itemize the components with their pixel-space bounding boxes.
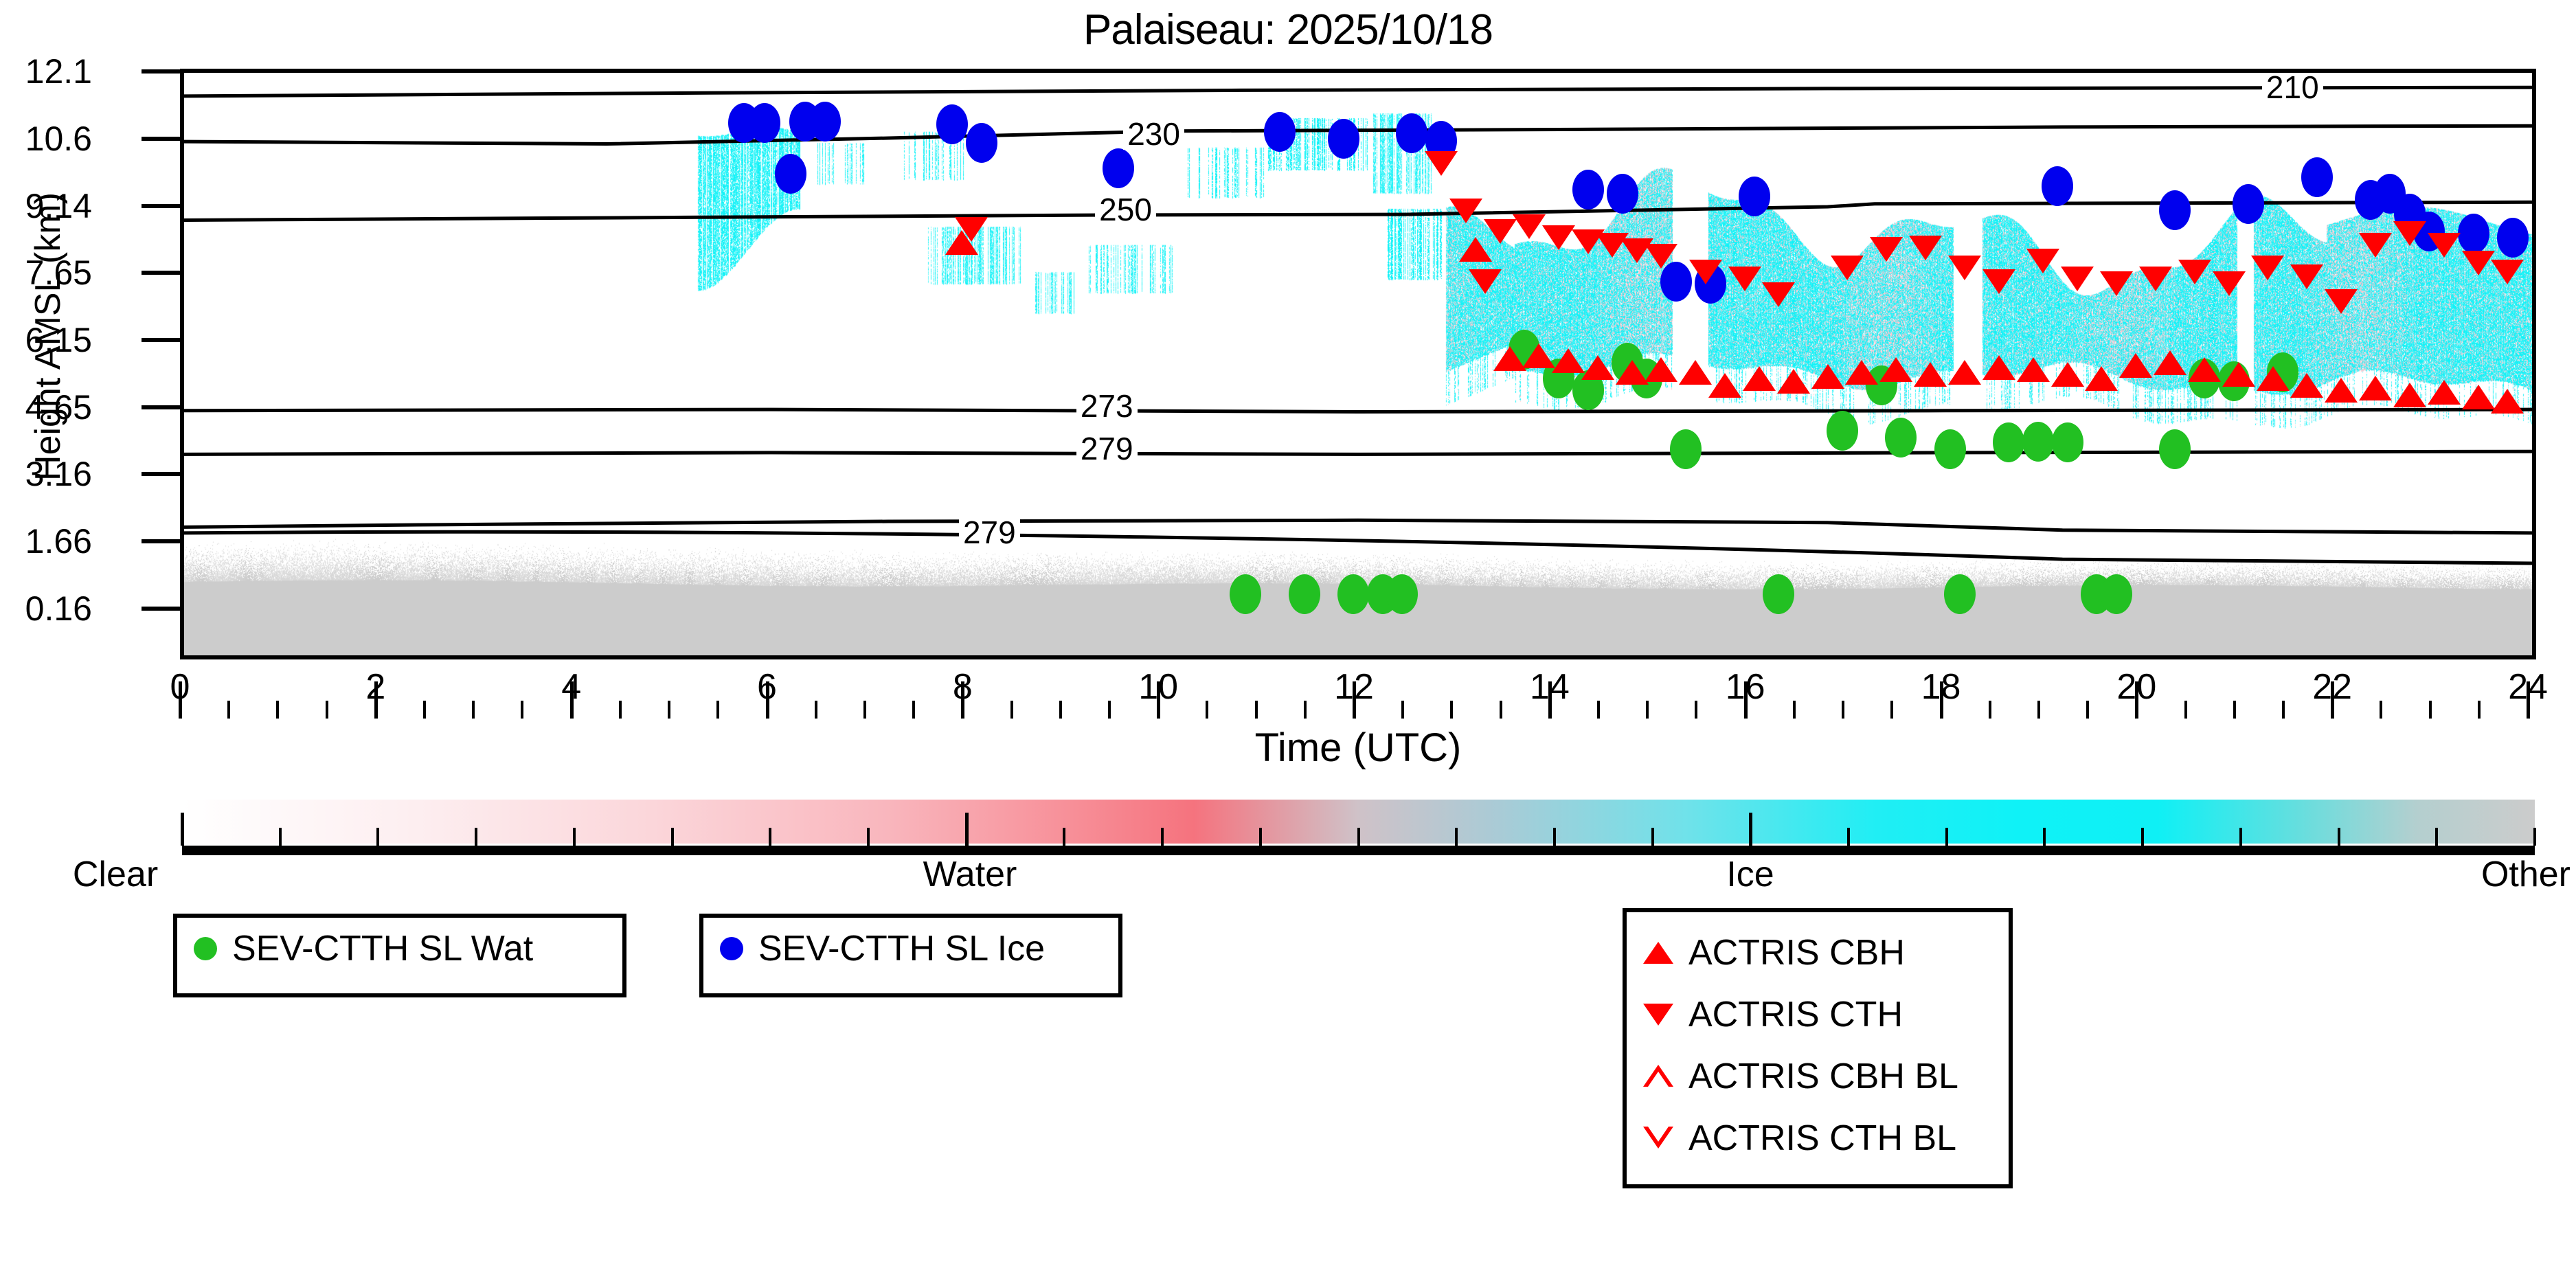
- contour-label: 230: [1123, 118, 1184, 150]
- x-tick-minor: [472, 701, 475, 719]
- triangle-down-filled-icon: [1643, 1004, 1673, 1026]
- x-tick-minor: [2037, 701, 2040, 719]
- legend-label-wat: SEV-CTTH SL Wat: [232, 931, 533, 967]
- x-tick-minor: [815, 701, 817, 719]
- colorbar-tick: [1259, 828, 1262, 846]
- x-tick-minor: [1108, 701, 1111, 719]
- colorbar-label-clear: Clear: [73, 855, 158, 894]
- legend-sev-ctth-wat[interactable]: SEV-CTTH SL Wat: [173, 914, 626, 997]
- colorbar-tick: [1945, 828, 1948, 846]
- colorbar-tick: [2239, 828, 2242, 846]
- colorbar-tick: [475, 828, 477, 846]
- colorbar-tick: [965, 813, 969, 846]
- x-tick-minor: [423, 701, 426, 719]
- colorbar-tick: [573, 828, 576, 846]
- x-tick-minor: [1695, 701, 1697, 719]
- colorbar-tick: [1357, 828, 1360, 846]
- x-tick-minor: [1500, 701, 1502, 719]
- x-tick-label: 16: [1726, 669, 1765, 705]
- contour-label: 273: [1076, 390, 1138, 422]
- x-tick-minor: [1793, 701, 1796, 719]
- colorbar-baseline: [182, 846, 2535, 855]
- legend-label-actris-cth-bl: ACTRIS CTH BL: [1688, 1120, 1956, 1156]
- y-tick-mark: [142, 338, 180, 342]
- x-tick-minor: [668, 701, 670, 719]
- colorbar-tick: [1651, 828, 1654, 846]
- x-tick-label: 18: [1921, 669, 1961, 705]
- x-tick-minor: [1401, 701, 1404, 719]
- x-tick-minor: [1646, 701, 1649, 719]
- x-tick-minor: [1010, 701, 1013, 719]
- x-tick-minor: [1842, 701, 1844, 719]
- colorbar-label-other: Other: [2481, 855, 2571, 894]
- x-tick-label: 22: [2312, 669, 2352, 705]
- colorbar-tick: [1161, 828, 1164, 846]
- x-tick-minor: [227, 701, 230, 719]
- x-tick-label: 6: [757, 669, 777, 705]
- legend-label-actris-cbh: ACTRIS CBH: [1688, 935, 1905, 971]
- legend-item-wat[interactable]: SEV-CTTH SL Wat: [177, 918, 622, 980]
- colorbar-tick: [769, 828, 771, 846]
- triangle-up-filled-icon: [1643, 942, 1673, 964]
- triangle-down-open-icon: [1643, 1127, 1673, 1150]
- colorbar-tick: [1553, 828, 1556, 846]
- y-tick-mark: [142, 607, 180, 611]
- cloud-classification-plot: 210230250273279279: [180, 69, 2536, 659]
- legend-item-actris-cbh[interactable]: ACTRIS CBH: [1627, 922, 2009, 984]
- y-tick-mark: [142, 271, 180, 275]
- x-tick-label: 14: [1530, 669, 1570, 705]
- contour-label: 210: [2262, 73, 2323, 103]
- x-tick-minor: [2233, 701, 2236, 719]
- y-tick-mark: [142, 69, 180, 74]
- colorbar-label-ice: Ice: [1726, 855, 1774, 894]
- x-tick-label: 2: [365, 669, 385, 705]
- x-tick-label: 20: [2116, 669, 2156, 705]
- x-tick-minor: [276, 701, 279, 719]
- colorbar-tick: [867, 828, 870, 846]
- colorbar-tick: [2338, 828, 2340, 846]
- x-tick-label: 24: [2508, 669, 2548, 705]
- x-tick-label: 12: [1334, 669, 1374, 705]
- x-tick-minor: [2429, 701, 2432, 719]
- blue-circle-icon: [720, 937, 743, 960]
- legend-actris[interactable]: ACTRIS CBH ACTRIS CTH ACTRIS CBH BL ACTR…: [1623, 908, 2013, 1188]
- legend-label-ice: SEV-CTTH SL Ice: [758, 931, 1045, 967]
- colorbar-tick: [181, 813, 184, 846]
- x-tick-minor: [1059, 701, 1062, 719]
- contour-label: 250: [1095, 194, 1156, 225]
- x-axis: 024681012141618202224: [180, 664, 2536, 719]
- x-tick-minor: [326, 701, 328, 719]
- legend-item-ice[interactable]: SEV-CTTH SL Ice: [703, 918, 1118, 980]
- x-tick-minor: [863, 701, 866, 719]
- triangle-up-open-icon: [1643, 1065, 1673, 1088]
- colorbar-tick: [2141, 828, 2144, 846]
- colorbar-tick: [1847, 828, 1850, 846]
- x-tick-minor: [1597, 701, 1600, 719]
- y-tick-mark: [142, 137, 180, 141]
- legend-label-actris-cbh-bl: ACTRIS CBH BL: [1688, 1059, 1958, 1094]
- x-tick-minor: [2478, 701, 2481, 719]
- x-tick-label: 4: [561, 669, 581, 705]
- colorbar-tick: [1455, 828, 1458, 846]
- x-tick-minor: [2086, 701, 2089, 719]
- green-circle-icon: [194, 937, 217, 960]
- x-tick-label: 10: [1138, 669, 1178, 705]
- colorbar-tick: [279, 828, 282, 846]
- y-tick-mark: [142, 405, 180, 409]
- colorbar-tick: [2043, 828, 2046, 846]
- contour-label-layer: 210230250273279279: [184, 73, 2532, 655]
- y-tick-mark: [142, 472, 180, 476]
- x-tick-minor: [619, 701, 622, 719]
- x-tick-minor: [2380, 701, 2382, 719]
- x-tick-minor: [521, 701, 523, 719]
- y-tick-mark: [142, 539, 180, 543]
- x-axis-label: Time (UTC): [180, 725, 2536, 771]
- colorbar-tick: [671, 828, 674, 846]
- x-tick-minor: [2282, 701, 2285, 719]
- x-tick-minor: [1304, 701, 1307, 719]
- contour-label: 279: [1076, 433, 1138, 464]
- legend-sev-ctth-ice[interactable]: SEV-CTTH SL Ice: [699, 914, 1122, 997]
- x-tick-minor: [1989, 701, 1991, 719]
- colorbar-tick: [1063, 828, 1065, 846]
- legend-item-actris-cth[interactable]: ACTRIS CTH: [1627, 984, 2009, 1046]
- contour-label: 279: [959, 517, 1020, 548]
- legend-label-actris-cth: ACTRIS CTH: [1688, 997, 1903, 1032]
- x-tick-label: 8: [953, 669, 973, 705]
- x-tick-label: 0: [170, 669, 190, 705]
- colorbar-tick: [2533, 828, 2536, 846]
- x-tick-minor: [2184, 701, 2187, 719]
- x-tick-minor: [1206, 701, 1208, 719]
- x-tick-minor: [1450, 701, 1453, 719]
- colorbar-label-water: Water: [923, 855, 1017, 894]
- y-tick-mark: [142, 204, 180, 208]
- colorbar-tick: [2435, 828, 2438, 846]
- x-tick-minor: [1890, 701, 1893, 719]
- colorbar-tick: [1749, 813, 1752, 846]
- x-tick-minor: [716, 701, 719, 719]
- x-tick-minor: [912, 701, 915, 719]
- y-axis-label: Height AMSL (km): [27, 41, 69, 632]
- x-tick-minor: [1255, 701, 1258, 719]
- legend-item-actris-cbh-bl[interactable]: ACTRIS CBH BL: [1627, 1046, 2009, 1107]
- legend-item-actris-cth-bl[interactable]: ACTRIS CTH BL: [1627, 1107, 2009, 1169]
- colorbar-tick: [376, 828, 379, 846]
- page-title: Palaiseau: 2025/10/18: [0, 5, 2576, 54]
